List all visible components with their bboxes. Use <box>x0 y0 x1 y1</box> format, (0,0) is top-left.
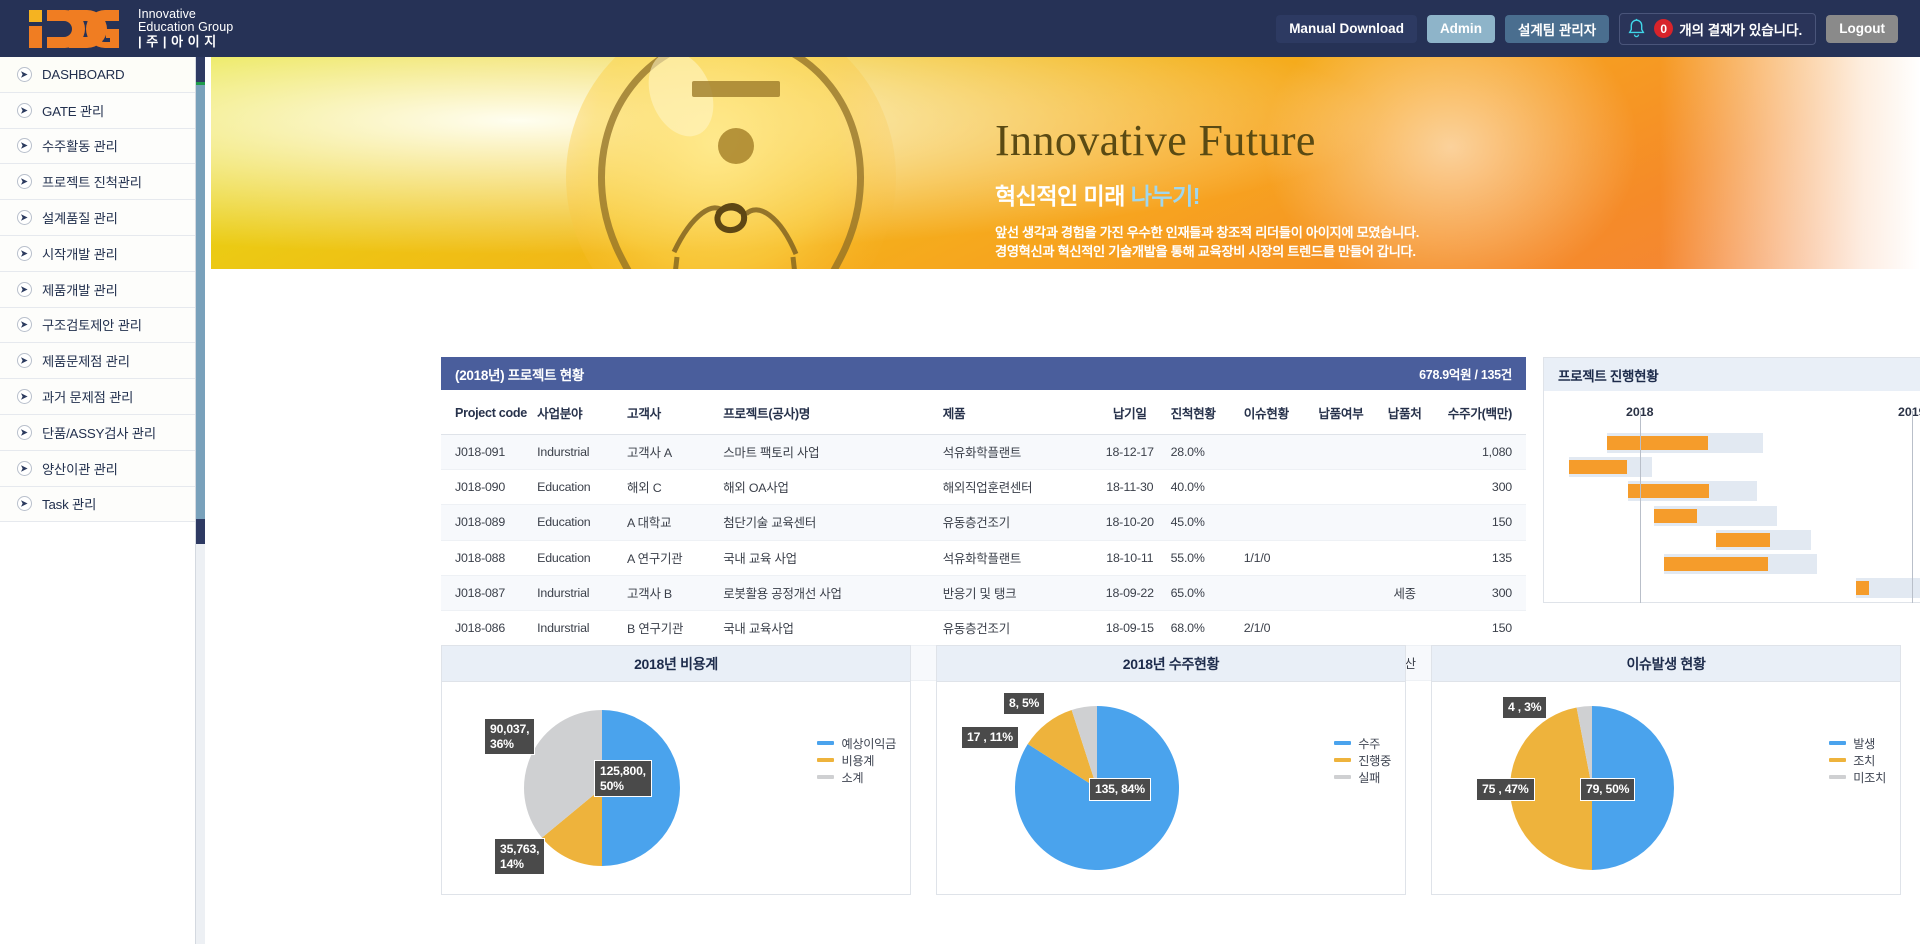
sidebar-item-0[interactable]: DASHBOARD <box>0 57 195 93</box>
scrollbar-cap-top <box>196 57 205 82</box>
col-header-1: 사업분야 <box>537 390 627 435</box>
notification-count-badge: 0 <box>1654 19 1673 38</box>
cost-pie-chart: 125,800, 50%35,763, 14%90,037, 36% <box>442 682 772 895</box>
legend-item[interactable]: 발생 <box>1829 734 1886 751</box>
cell-product: 석유화학플랜트 <box>943 435 1089 470</box>
notification-label: 개의 결재가 있습니다. <box>1679 19 1802 39</box>
gantt-bar-fill <box>1716 533 1770 547</box>
gantt-row: 68% <box>1544 552 1920 576</box>
table-row[interactable]: J018-087Indurstrial고객사 B로봇활용 공정개선 사업반응기 … <box>441 575 1526 610</box>
col-header-3: 프로젝트(공사)명 <box>723 390 943 435</box>
legend-swatch <box>1829 741 1846 745</box>
sidebar-item-label: DASHBOARD <box>42 67 124 82</box>
sidebar-item-label: 시작개발 관리 <box>42 244 118 263</box>
cell-delivered <box>1309 575 1374 610</box>
cell-issue[interactable] <box>1244 470 1309 505</box>
sidebar-scrollbar[interactable] <box>196 57 205 944</box>
sidebar-item-label: 제품개발 관리 <box>42 280 118 299</box>
sidebar-item-label: Task 관리 <box>42 494 96 513</box>
chevron-right-icon <box>17 246 32 261</box>
gantt-panel-title: 프로젝트 진행현황 <box>1558 365 1658 385</box>
legend-swatch <box>1334 758 1351 762</box>
cell-due: 18-10-11 <box>1089 540 1171 575</box>
sidebar-nav: DASHBOARDGATE 관리수주활동 관리프로젝트 진척관리설계품질 관리시… <box>0 57 195 522</box>
cell-delivered <box>1309 540 1374 575</box>
gantt-row: 63% <box>1544 479 1920 503</box>
cell-name: 국내 교육사업 <box>723 610 943 645</box>
cell-field: Indurstrial <box>537 575 627 610</box>
cell-delivered <box>1309 470 1374 505</box>
main-content: Innovative Future 혁신적인 미래 나누기! 앞선 생각과 경험… <box>205 57 1920 944</box>
cell-progress[interactable]: 40.0% <box>1171 470 1244 505</box>
cell-product: 해외직업훈련센터 <box>943 470 1089 505</box>
legend-label: 소계 <box>841 768 863 786</box>
cell-delivered <box>1309 435 1374 470</box>
cell-field: Education <box>537 505 627 540</box>
cell-progress[interactable]: 28.0% <box>1171 435 1244 470</box>
sidebar: DASHBOARDGATE 관리수주활동 관리프로젝트 진척관리설계품질 관리시… <box>0 57 196 944</box>
col-header-7: 이슈현황 <box>1244 390 1309 435</box>
cell-name: 로봇활용 공정개선 사업 <box>723 575 943 610</box>
cell-dest <box>1373 470 1436 505</box>
notification-area[interactable]: 0 개의 결재가 있습니다. <box>1619 13 1816 45</box>
pie-data-label: 135, 84% <box>1089 778 1151 801</box>
gantt-chart: 2018 2019 (공정율) 65%70%63%35%57%68%15% <box>1544 391 1920 603</box>
cell-progress[interactable]: 45.0% <box>1171 505 1244 540</box>
chevron-right-icon <box>17 353 32 368</box>
order-chart-panel: 2018년 수주현황 135, 84%17 , 11%8, 5% 수주진행중실패 <box>936 645 1406 895</box>
legend-swatch <box>1334 775 1351 779</box>
col-header-10: 수주가(백만) <box>1436 390 1526 435</box>
chevron-right-icon <box>17 210 32 225</box>
gantt-bar-fill <box>1569 460 1627 474</box>
brand-text: Innovative Education Group | 주 | 아 이 지 <box>138 8 233 49</box>
cell-client: 고객사 A <box>627 435 723 470</box>
sidebar-item-label: 구조검토제안 관리 <box>42 315 142 334</box>
banner-fade <box>1660 57 1920 269</box>
table-row[interactable]: J018-091Indurstrial고객사 A스마트 팩토리 사업석유화학플랜… <box>441 435 1526 470</box>
cell-due: 18-09-22 <box>1089 575 1171 610</box>
col-header-9: 납품처 <box>1373 390 1436 435</box>
top-bar: Innovative Education Group | 주 | 아 이 지 M… <box>0 0 1920 57</box>
cell-code: J018-087 <box>441 575 537 610</box>
cell-code: J018-090 <box>441 470 537 505</box>
issue-chart-panel: 이슈발생 현황 79, 50%75 , 47%4 , 3% 발생조치미조치 <box>1431 645 1901 895</box>
cell-name: 국내 교육 사업 <box>723 540 943 575</box>
legend-item[interactable]: 비용계 <box>817 751 896 768</box>
cell-dest: 세종 <box>1373 575 1436 610</box>
legend-label: 미조치 <box>1853 768 1886 786</box>
legend-label: 비용계 <box>841 751 874 769</box>
sidebar-item-label: 단품/ASSY검사 관리 <box>42 423 156 442</box>
legend-item[interactable]: 예상이익금 <box>817 734 896 751</box>
lightbulb-illustration-icon <box>496 57 966 269</box>
legend-item[interactable]: 수주 <box>1334 734 1391 751</box>
chevron-right-icon <box>17 317 32 332</box>
banner-desc-line-2: 경영혁신과 혁신적인 기술개발을 통해 교육장비 시장의 트렌드를 만들어 갑니… <box>995 242 1419 261</box>
table-row[interactable]: J018-089EducationA 대학교첨단기술 교육센터유동층건조기18-… <box>441 505 1526 540</box>
cell-code: J018-091 <box>441 435 537 470</box>
cell-price: 1,080 <box>1436 435 1526 470</box>
cell-client: B 연구기관 <box>627 610 723 645</box>
legend-swatch <box>817 775 834 779</box>
cell-code: J018-088 <box>441 540 537 575</box>
banner-subtitle-main: 혁신적인 미래 <box>995 183 1131 209</box>
gantt-gridline-left <box>1640 411 1641 603</box>
chevron-right-icon <box>17 496 32 511</box>
cell-product: 반응기 및 탱크 <box>943 575 1089 610</box>
cost-chart-body: 125,800, 50%35,763, 14%90,037, 36% 예상이익금… <box>442 682 910 895</box>
col-header-4: 제품 <box>943 390 1089 435</box>
chevron-right-icon <box>17 174 32 189</box>
gantt-rows: 65%70%63%35%57%68%15% <box>1544 431 1920 600</box>
table-row[interactable]: J018-086IndurstrialB 연구기관국내 교육사업유동층건조기18… <box>441 610 1526 645</box>
cell-code: J018-086 <box>441 610 537 645</box>
chevron-right-icon <box>17 425 32 440</box>
cell-field: Education <box>537 470 627 505</box>
cell-client: A 연구기관 <box>627 540 723 575</box>
gantt-bar-fill <box>1856 581 1869 595</box>
cell-product: 석유화학플랜트 <box>943 540 1089 575</box>
cell-dest <box>1373 435 1436 470</box>
col-header-8: 납품여부 <box>1309 390 1374 435</box>
gantt-bar-fill <box>1607 436 1708 450</box>
issue-chart-legend: 발생조치미조치 <box>1829 734 1886 785</box>
legend-item[interactable]: 소계 <box>817 768 896 785</box>
admin-button[interactable]: Admin <box>1427 15 1495 43</box>
gantt-row: 57% <box>1544 528 1920 552</box>
project-status-panel: (2018년) 프로젝트 현황 678.9억원 / 135건 Project c… <box>441 357 1526 603</box>
legend-item[interactable]: 실패 <box>1334 768 1391 785</box>
cell-price: 300 <box>1436 575 1526 610</box>
legend-label: 발생 <box>1853 734 1875 752</box>
cell-delivered <box>1309 505 1374 540</box>
pie-data-label: 90,037, 36% <box>484 718 535 755</box>
cell-product: 유동층건조기 <box>943 610 1089 645</box>
gantt-axis-right-label: 2019 <box>1898 405 1920 419</box>
cell-field: Education <box>537 540 627 575</box>
legend-label: 수주 <box>1358 734 1380 752</box>
legend-swatch <box>1829 758 1846 762</box>
col-header-0: Project code <box>441 390 537 435</box>
sidebar-item-1[interactable]: GATE 관리 <box>0 93 195 129</box>
scrollbar-accent <box>196 82 205 85</box>
cell-dest <box>1373 505 1436 540</box>
pie-data-label: 35,763, 14% <box>494 838 545 875</box>
cell-name: 해외 OA사업 <box>723 470 943 505</box>
cell-price: 300 <box>1436 470 1526 505</box>
top-actions: Manual Download Admin 설계팀 관리자 0 개의 결재가 있… <box>1276 13 1898 45</box>
gantt-bar-fill <box>1654 509 1697 523</box>
chevron-right-icon <box>17 138 32 153</box>
sidebar-item-11[interactable]: 양산이관 관리 <box>0 451 195 487</box>
brand-line-2: Education Group <box>138 21 233 34</box>
legend-swatch <box>817 758 834 762</box>
cell-issue[interactable] <box>1244 505 1309 540</box>
pie-data-label: 125,800, 50% <box>594 760 652 797</box>
cost-chart-title: 2018년 비용계 <box>442 646 910 682</box>
sidebar-item-label: 양산이관 관리 <box>42 459 118 478</box>
sidebar-item-label: 과거 문제점 관리 <box>42 387 133 406</box>
chevron-right-icon <box>17 67 32 82</box>
pie-data-label: 8, 5% <box>1003 692 1045 715</box>
sidebar-item-label: 수주활동 관리 <box>42 136 118 155</box>
cell-code: J018-089 <box>441 505 537 540</box>
chevron-right-icon <box>17 461 32 476</box>
col-header-2: 고객사 <box>627 390 723 435</box>
sidebar-item-6[interactable]: 제품개발 관리 <box>0 272 195 308</box>
legend-swatch <box>817 741 834 745</box>
project-table-header-row: Project code사업분야고객사프로젝트(공사)명제품납기일진척현황이슈현… <box>441 390 1526 435</box>
logout-button[interactable]: Logout <box>1826 15 1898 43</box>
cell-issue[interactable] <box>1244 435 1309 470</box>
issue-chart-title: 이슈발생 현황 <box>1432 646 1900 682</box>
legend-swatch <box>1334 741 1351 745</box>
pie-data-label: 79, 50% <box>1580 778 1635 801</box>
col-header-6: 진척현황 <box>1171 390 1244 435</box>
banner-description: 앞선 생각과 경험을 가진 우수한 인재들과 창조적 리더들이 아이지에 모였습… <box>995 223 1419 261</box>
cell-delivered <box>1309 610 1374 645</box>
legend-item[interactable]: 조치 <box>1829 751 1886 768</box>
legend-item[interactable]: 미조치 <box>1829 768 1886 785</box>
sidebar-item-7[interactable]: 구조검토제안 관리 <box>0 308 195 344</box>
issue-pie-chart: 79, 50%75 , 47%4 , 3% <box>1432 682 1762 895</box>
cell-dest <box>1373 610 1436 645</box>
project-table-body: J018-091Indurstrial고객사 A스마트 팩토리 사업석유화학플랜… <box>441 435 1526 681</box>
bell-icon[interactable] <box>1627 18 1646 39</box>
legend-label: 예상이익금 <box>841 734 896 752</box>
hero-banner: Innovative Future 혁신적인 미래 나누기! 앞선 생각과 경험… <box>211 57 1920 269</box>
scrollbar-cap-bottom <box>196 519 205 544</box>
order-chart-body: 135, 84%17 , 11%8, 5% 수주진행중실패 <box>937 682 1405 895</box>
brand-line-3: | 주 | 아 이 지 <box>138 35 233 49</box>
sidebar-item-5[interactable]: 시작개발 관리 <box>0 236 195 272</box>
project-panel-summary: 678.9억원 / 135건 <box>1419 364 1512 383</box>
cell-field: Indurstrial <box>537 610 627 645</box>
cell-issue[interactable] <box>1244 575 1309 610</box>
chevron-right-icon <box>17 389 32 404</box>
order-pie-chart: 135, 84%17 , 11%8, 5% <box>937 682 1267 895</box>
cell-price: 150 <box>1436 610 1526 645</box>
cost-chart-legend: 예상이익금비용계소계 <box>817 734 896 785</box>
sidebar-item-4[interactable]: 설계품질 관리 <box>0 200 195 236</box>
cell-name: 스마트 팩토리 사업 <box>723 435 943 470</box>
chevron-right-icon <box>17 282 32 297</box>
gantt-row: 70% <box>1544 455 1920 479</box>
cell-name: 첨단기술 교육센터 <box>723 505 943 540</box>
sidebar-item-label: 제품문제점 관리 <box>42 351 130 370</box>
manual-download-button[interactable]: Manual Download <box>1276 15 1417 43</box>
chevron-right-icon <box>17 103 32 118</box>
pie-data-label: 17 , 11% <box>961 726 1019 749</box>
cell-issue[interactable]: 1/1/0 <box>1244 540 1309 575</box>
sidebar-item-label: 설계품질 관리 <box>42 208 118 227</box>
legend-swatch <box>1829 775 1846 779</box>
gantt-gridline-right <box>1912 411 1913 603</box>
sidebar-item-10[interactable]: 단품/ASSY검사 관리 <box>0 415 195 451</box>
banner-title: Innovative Future <box>995 119 1419 163</box>
order-chart-legend: 수주진행중실패 <box>1334 734 1391 785</box>
legend-item[interactable]: 진행중 <box>1334 751 1391 768</box>
notification-text-group: 0 개의 결재가 있습니다. <box>1654 19 1806 39</box>
sidebar-scrollbar-thumb[interactable] <box>196 57 205 544</box>
sidebar-item-9[interactable]: 과거 문제점 관리 <box>0 379 195 415</box>
issue-chart-body: 79, 50%75 , 47%4 , 3% 발생조치미조치 <box>1432 682 1900 895</box>
cell-progress[interactable]: 68.0% <box>1171 610 1244 645</box>
cell-product: 유동층건조기 <box>943 505 1089 540</box>
pie-data-label: 75 , 47% <box>1476 778 1535 801</box>
project-progress-panel: 프로젝트 진행현황 2018 2019 (공정율) 65%70%63%35%57… <box>1543 357 1920 603</box>
gantt-axis: 2018 2019 (공정율) <box>1544 405 1920 427</box>
project-table-head: Project code사업분야고객사프로젝트(공사)명제품납기일진척현황이슈현… <box>441 390 1526 435</box>
sidebar-item-8[interactable]: 제품문제점 관리 <box>0 343 195 379</box>
sidebar-item-2[interactable]: 수주활동 관리 <box>0 129 195 165</box>
table-row[interactable]: J018-088EducationA 연구기관국내 교육 사업석유화학플랜트18… <box>441 540 1526 575</box>
banner-subtitle-accent: 나누기! <box>1131 183 1200 209</box>
cost-chart-panel: 2018년 비용계 125,800, 50%35,763, 14%90,037,… <box>441 645 911 895</box>
design-team-manager-button[interactable]: 설계팀 관리자 <box>1505 15 1609 43</box>
legend-label: 진행중 <box>1358 751 1391 769</box>
gantt-bar-fill <box>1664 557 1768 571</box>
project-panel-title: (2018년) 프로젝트 현황 <box>455 364 584 384</box>
cell-field: Indurstrial <box>537 435 627 470</box>
cell-client: A 대학교 <box>627 505 723 540</box>
cell-dest <box>1373 540 1436 575</box>
cell-client: 해외 C <box>627 470 723 505</box>
sidebar-item-3[interactable]: 프로젝트 진척관리 <box>0 164 195 200</box>
table-row[interactable]: J018-090Education해외 C해외 OA사업해외직업훈련센터18-1… <box>441 470 1526 505</box>
gantt-row: 35% <box>1544 504 1920 528</box>
order-chart-title: 2018년 수주현황 <box>937 646 1405 682</box>
cell-progress[interactable]: 55.0% <box>1171 540 1244 575</box>
banner-subtitle: 혁신적인 미래 나누기! <box>995 177 1419 211</box>
pie-data-label: 4 , 3% <box>1502 696 1547 719</box>
cell-due: 18-10-20 <box>1089 505 1171 540</box>
sidebar-item-12[interactable]: Task 관리 <box>0 487 195 523</box>
cell-progress[interactable]: 65.0% <box>1171 575 1244 610</box>
sidebar-item-label: GATE 관리 <box>42 101 104 120</box>
col-header-5: 납기일 <box>1089 390 1171 435</box>
project-panel-header: (2018년) 프로젝트 현황 678.9억원 / 135건 <box>441 357 1526 390</box>
gantt-row: 65% <box>1544 431 1920 455</box>
legend-label: 조치 <box>1853 751 1875 769</box>
cell-price: 150 <box>1436 505 1526 540</box>
cell-price: 135 <box>1436 540 1526 575</box>
gantt-row: 15% <box>1544 576 1920 600</box>
cell-due: 18-11-30 <box>1089 470 1171 505</box>
banner-text-block: Innovative Future 혁신적인 미래 나누기! 앞선 생각과 경험… <box>995 119 1419 261</box>
brand-logo[interactable]: Innovative Education Group | 주 | 아 이 지 <box>27 8 233 50</box>
cell-due: 18-09-15 <box>1089 610 1171 645</box>
gantt-panel-header: 프로젝트 진행현황 <box>1544 358 1920 391</box>
sidebar-item-label: 프로젝트 진척관리 <box>42 172 142 191</box>
cell-client: 고객사 B <box>627 575 723 610</box>
legend-label: 실패 <box>1358 768 1380 786</box>
banner-desc-line-1: 앞선 생각과 경험을 가진 우수한 인재들과 창조적 리더들이 아이지에 모였습… <box>995 223 1419 242</box>
cell-due: 18-12-17 <box>1089 435 1171 470</box>
cell-issue[interactable]: 2/1/0 <box>1244 610 1309 645</box>
idg-logo-icon <box>27 8 132 50</box>
project-table: Project code사업분야고객사프로젝트(공사)명제품납기일진척현황이슈현… <box>441 390 1526 681</box>
